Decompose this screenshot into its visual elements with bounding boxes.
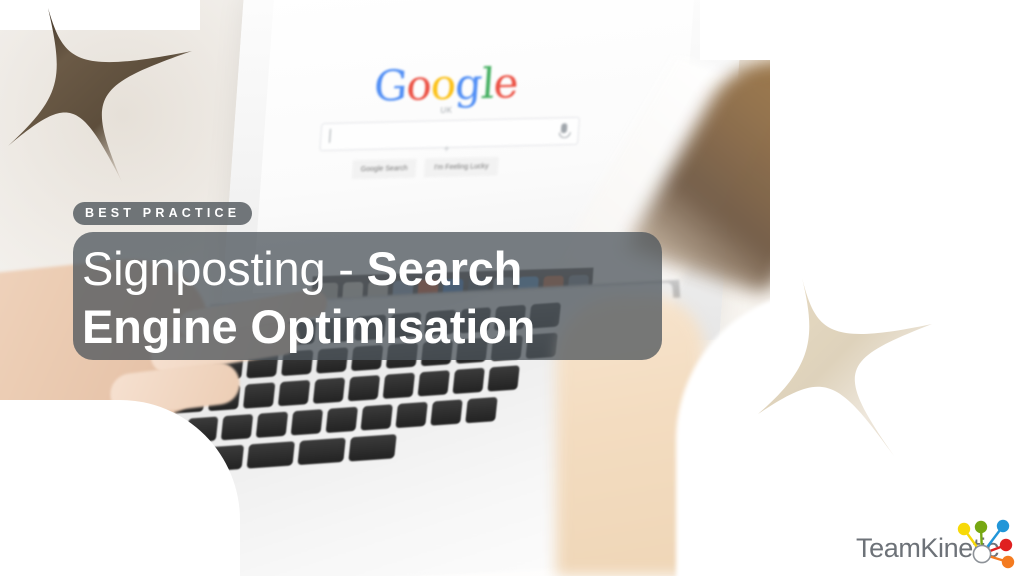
keyboard-key xyxy=(430,399,462,425)
keyboard-key xyxy=(465,397,497,423)
sparkle-right-icon xyxy=(744,266,934,461)
keyboard-key xyxy=(221,414,253,440)
background-white-top xyxy=(700,0,1024,60)
kinetic-dot-blue xyxy=(997,520,1009,532)
foreground-white-plate-secondary xyxy=(0,430,230,576)
keyboard-key xyxy=(247,441,295,468)
kinetic-hub xyxy=(973,545,990,562)
keyboard-key xyxy=(313,378,345,404)
kinetic-dot-yellow xyxy=(958,523,970,535)
plus-icon: + xyxy=(443,144,450,155)
keyboard-key xyxy=(383,373,415,399)
page-title: Signposting - Search Engine Optimisation xyxy=(82,240,662,356)
keyboard-key xyxy=(297,438,345,465)
google-country-code: UK xyxy=(440,106,453,115)
keyboard-key xyxy=(395,402,427,428)
keyboard-key xyxy=(278,380,310,406)
feeling-lucky-button[interactable]: I'm Feeling Lucky xyxy=(424,157,500,178)
keyboard-key xyxy=(360,404,392,430)
keyboard-key xyxy=(256,412,288,438)
banner-canvas: Google UK + Google Search I'm Feeling Lu… xyxy=(0,0,1024,576)
teamkinetic-logo[interactable]: TeamKinetic xyxy=(856,524,1016,572)
google-logo: Google xyxy=(373,62,520,107)
sparkle-top-left-icon xyxy=(6,4,196,184)
google-search-button[interactable]: Google Search xyxy=(351,159,416,180)
kinetic-dot-orange xyxy=(1002,556,1014,568)
keyboard-key xyxy=(418,370,450,396)
keyboard-key xyxy=(348,434,396,461)
keyboard-key xyxy=(291,409,323,435)
kinetic-burst-icon xyxy=(956,518,1018,575)
page-title-light-part: Signposting - xyxy=(82,242,354,295)
best-practice-badge: BEST PRACTICE xyxy=(73,202,252,225)
keyboard-key xyxy=(348,375,380,401)
kinetic-dot-red xyxy=(1000,539,1012,551)
microphone-icon[interactable] xyxy=(561,123,568,133)
keyboard-key xyxy=(243,382,275,408)
page-title-bold-part-2: Engine Optimisation xyxy=(82,300,535,353)
page-title-line-1: Signposting - Search xyxy=(82,240,662,298)
keyboard-key xyxy=(487,365,519,391)
page-title-line-2: Engine Optimisation xyxy=(82,298,662,356)
keyboard-key xyxy=(452,368,484,394)
page-title-bold-part-1: Search xyxy=(367,242,523,295)
kinetic-dot-green xyxy=(975,521,987,533)
google-homepage: Google UK + Google Search I'm Feeling Lu… xyxy=(293,24,606,206)
keyboard-key xyxy=(326,407,358,433)
